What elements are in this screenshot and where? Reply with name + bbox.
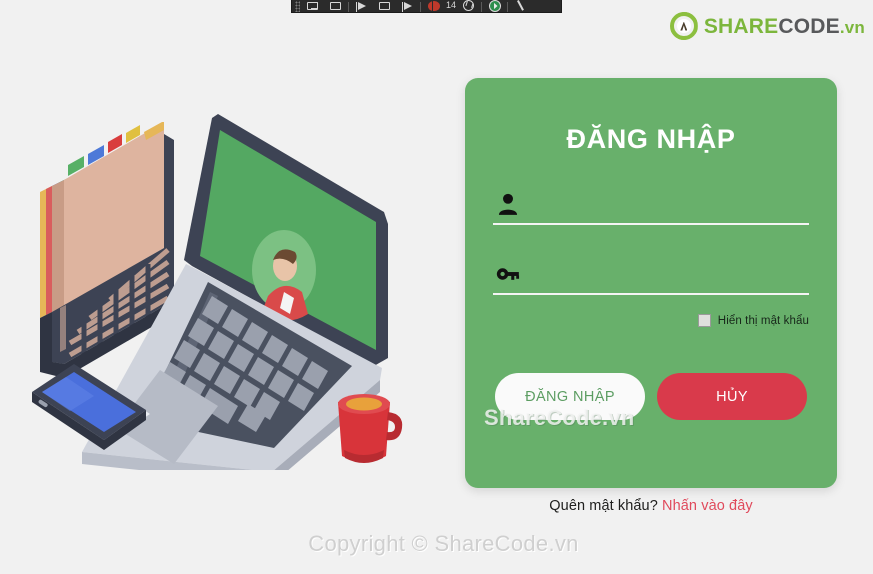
isometric-desk-login-illustration: [22, 100, 422, 470]
bug-count: 14: [446, 0, 456, 12]
bug-icon[interactable]: [423, 0, 444, 12]
show-password-row[interactable]: Hiển thị mật khẩu: [493, 314, 809, 327]
page-title: ĐĂNG NHẬP: [493, 78, 809, 155]
flag-icon[interactable]: [351, 0, 372, 12]
action-buttons: ĐĂNG NHẬP HỦY: [493, 373, 809, 420]
brand-wordmark: SHARECODE.vn: [704, 16, 865, 37]
ide-toolbar-strip: 14: [291, 0, 562, 13]
new-frame-icon[interactable]: [325, 0, 346, 12]
slash-icon[interactable]: [510, 0, 531, 12]
brand-logo: SHARECODE.vn: [670, 12, 865, 40]
brand-part-share: SHARE: [704, 15, 779, 38]
grip-handle-icon[interactable]: [295, 1, 300, 12]
key-icon: [495, 261, 521, 287]
flag-outline-icon[interactable]: [397, 0, 418, 12]
toolbar-separator: [481, 2, 482, 12]
toolbar-separator: [420, 2, 421, 12]
recycle-logo-icon: [670, 12, 698, 40]
person-icon: [495, 191, 521, 217]
forgot-password-link[interactable]: Nhấn vào đây: [662, 498, 753, 514]
show-password-checkbox[interactable]: [698, 314, 711, 327]
copyright-watermark: Copyright © ShareCode.vn: [0, 531, 873, 557]
login-button[interactable]: ĐĂNG NHẬP: [495, 373, 645, 420]
forgot-password-text: Quên mật khẩu?: [549, 498, 658, 514]
coffee-mug: [338, 394, 402, 463]
toolbar-separator: [507, 2, 508, 12]
username-field-wrapper[interactable]: [493, 181, 809, 225]
toolbar-separator: [348, 2, 349, 12]
warning-circle-icon[interactable]: [458, 0, 479, 12]
username-input[interactable]: [493, 195, 809, 223]
password-input[interactable]: [493, 265, 809, 293]
new-window-icon[interactable]: [302, 0, 323, 12]
brand-part-vn: .vn: [840, 18, 865, 37]
illustration-svg: [22, 100, 422, 470]
run-icon[interactable]: [484, 0, 505, 12]
login-card: ĐĂNG NHẬP: [465, 78, 837, 488]
cancel-button[interactable]: HỦY: [657, 373, 807, 420]
password-field-wrapper[interactable]: [493, 251, 809, 295]
panel-icon[interactable]: [374, 0, 395, 12]
brand-part-code: CODE: [778, 15, 839, 38]
show-password-label: Hiển thị mật khẩu: [718, 315, 809, 327]
app-window: 14 SHARECODE.vn: [0, 0, 873, 574]
forgot-password-row: Quên mật khẩu? Nhấn vào đây: [465, 498, 837, 514]
